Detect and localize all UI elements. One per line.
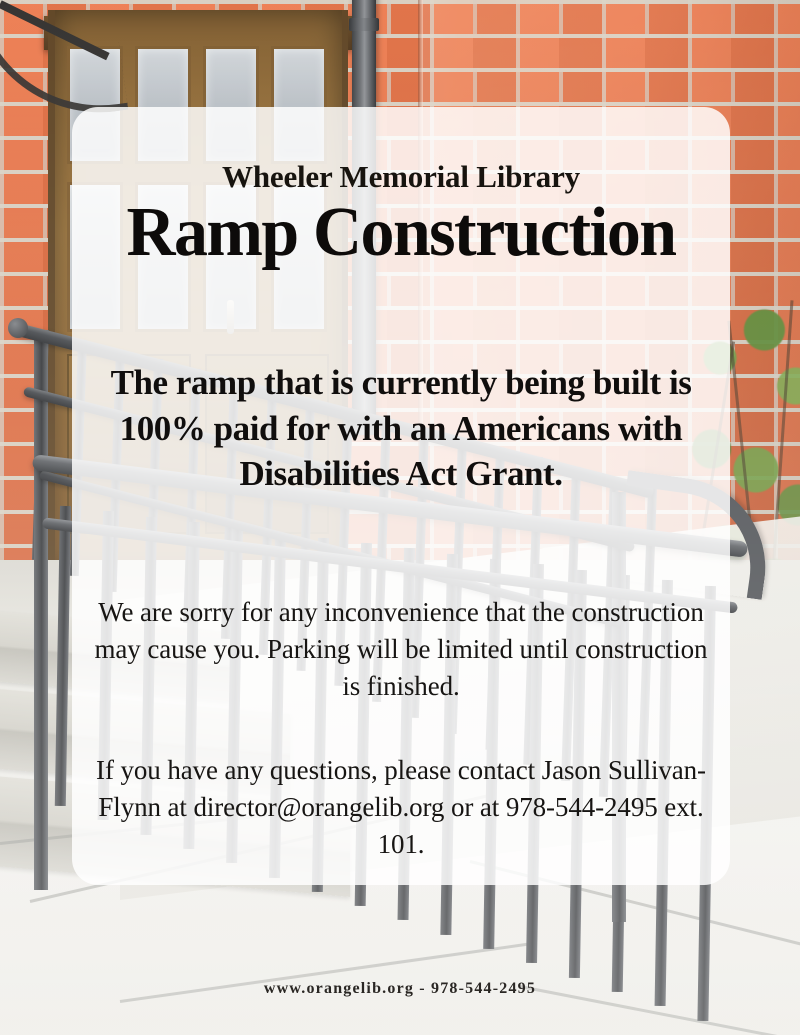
contact-paragraph: If you have any questions, please contac… (88, 752, 714, 863)
downpipe-collar (349, 18, 379, 31)
page-title: Ramp Construction (82, 195, 720, 271)
poster-text-block: Wheeler Memorial Library Ramp Constructi… (72, 107, 730, 885)
railing-post (34, 330, 48, 890)
poster-canvas: Wheeler Memorial Library Ramp Constructi… (0, 0, 800, 1035)
funding-statement: The ramp that is currently being built i… (80, 360, 722, 497)
organization-name: Wheeler Memorial Library (72, 160, 730, 194)
apology-paragraph: We are sorry for any inconvenience that … (94, 594, 708, 705)
footer-contact-line: www.orangelib.org - 978-544-2495 (0, 980, 800, 998)
handrail-end-cap (8, 318, 28, 338)
